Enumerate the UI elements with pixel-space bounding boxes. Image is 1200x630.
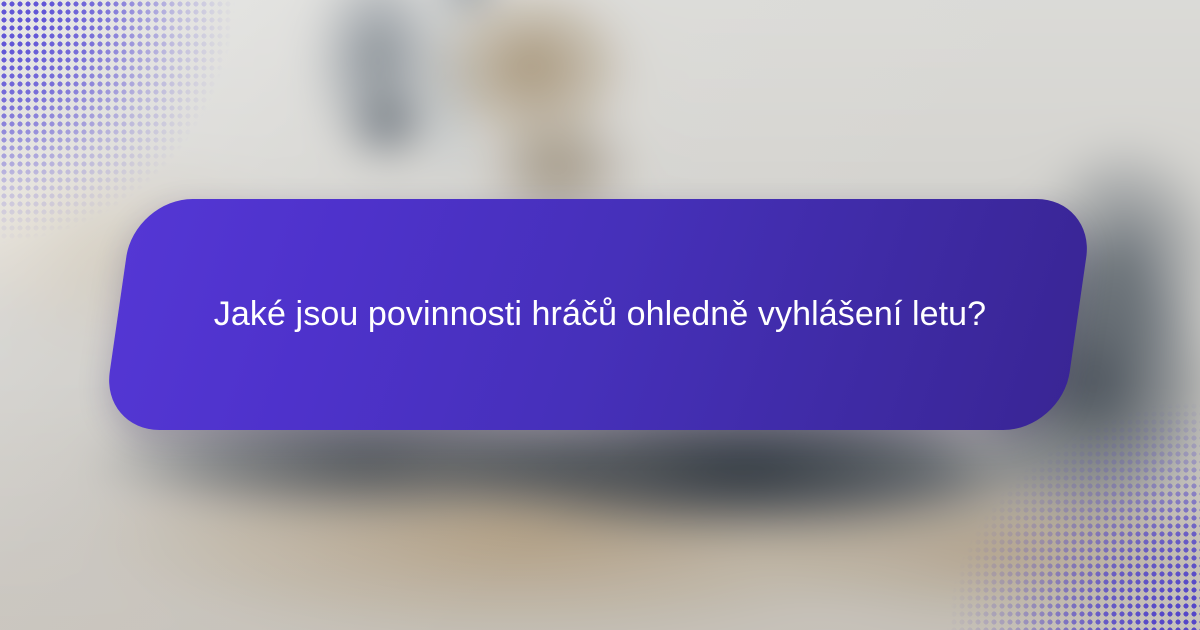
- question-banner: Jaké jsou povinnosti hráčů ohledně vyhlá…: [0, 199, 1200, 430]
- question-card: Jaké jsou povinnosti hráčů ohledně vyhlá…: [0, 0, 1200, 630]
- question-text: Jaké jsou povinnosti hráčů ohledně vyhlá…: [150, 199, 1050, 430]
